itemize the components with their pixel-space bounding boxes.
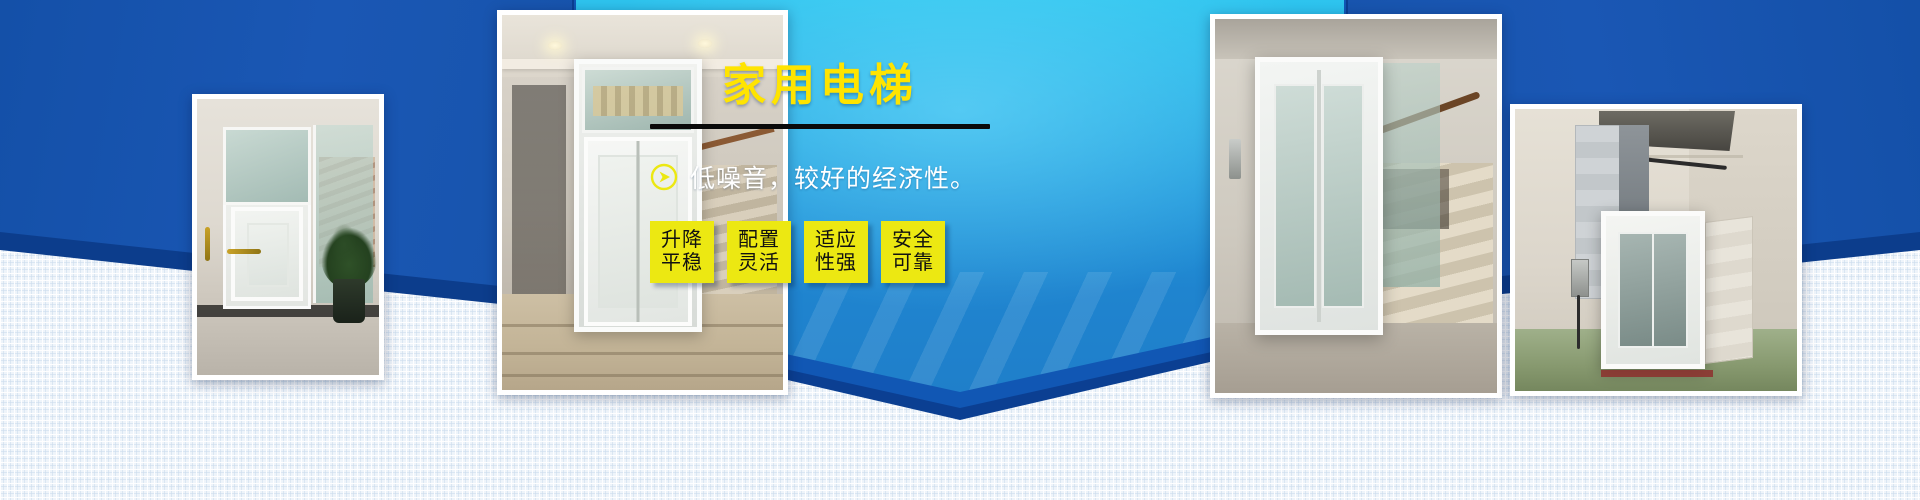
badge-line-1: 配置 — [738, 229, 780, 253]
feature-badge[interactable]: 升降 平稳 — [650, 221, 714, 283]
feature-badge[interactable]: 配置 灵活 — [727, 221, 791, 283]
photo-home-elevator-with-plant — [192, 94, 384, 380]
badge-line-2: 灵活 — [738, 252, 780, 276]
badge-line-2: 性强 — [815, 252, 857, 276]
badge-line-2: 可靠 — [892, 252, 934, 276]
feature-badge-list: 升降 平稳 配置 灵活 适应 性强 安全 可靠 — [650, 221, 990, 283]
feature-badge[interactable]: 适应 性强 — [804, 221, 868, 283]
photo-home-elevator-beside-stairs — [1210, 14, 1502, 398]
title-divider — [650, 124, 990, 129]
tagline: 低噪音，较好的经济性。 — [650, 159, 990, 195]
tagline-text: 低噪音，较好的经济性。 — [690, 159, 976, 195]
home-elevator-banner: 家用电梯 低噪音，较好的经济性。 升降 平稳 配置 灵活 适应 性强 — [0, 0, 1920, 500]
badge-line-2: 平稳 — [661, 252, 703, 276]
feature-badge[interactable]: 安全 可靠 — [881, 221, 945, 283]
photo-home-elevator-installation — [1510, 104, 1802, 396]
badge-line-1: 适应 — [815, 229, 857, 253]
badge-line-1: 升降 — [661, 229, 703, 253]
banner-text-block: 家用电梯 低噪音，较好的经济性。 升降 平稳 配置 灵活 适应 性强 — [650, 62, 990, 283]
circle-play-arrow-icon — [650, 163, 678, 191]
page-title: 家用电梯 — [650, 62, 990, 110]
badge-line-1: 安全 — [892, 229, 934, 253]
